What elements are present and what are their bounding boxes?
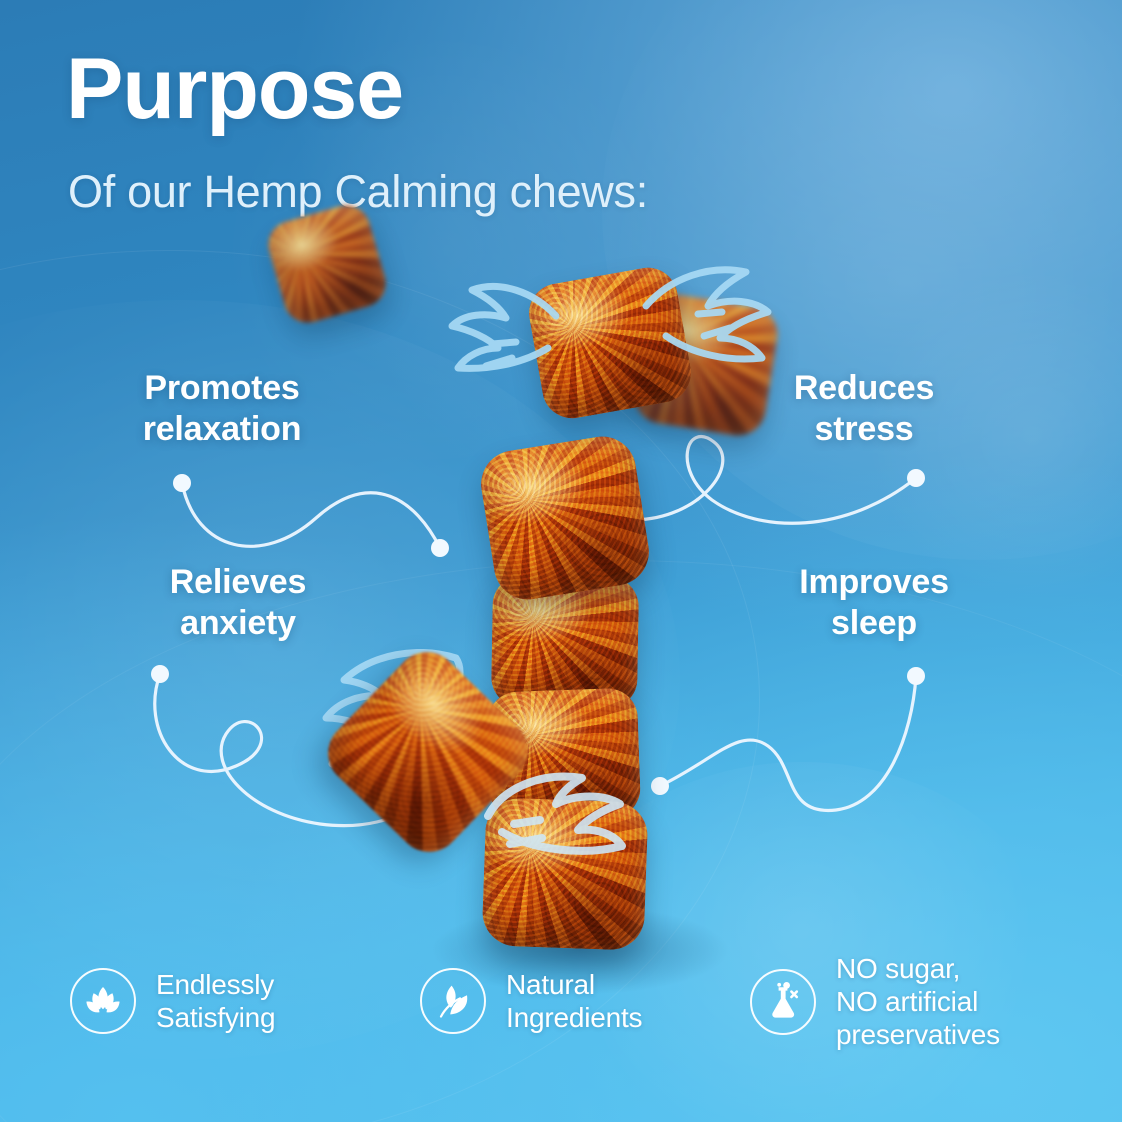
badge-label: NO sugar, NO artificial preservatives <box>836 952 1000 1051</box>
chew-floating-winged <box>524 263 695 423</box>
benefit-label-relieves-anxiety: Relieves anxiety <box>108 562 368 645</box>
lotus-icon <box>83 983 123 1019</box>
connector-improves-sleep <box>660 676 916 810</box>
background-glow-top-right <box>602 0 1122 560</box>
flask-no-icon <box>764 982 802 1022</box>
badge-label: Endlessly Satisfying <box>156 968 275 1034</box>
connector-promotes-relaxation <box>182 483 440 548</box>
promotional-poster: Purpose Of our Hemp Calming chews: Promo… <box>0 0 1122 1122</box>
badge-label: Natural Ingredients <box>506 968 642 1034</box>
benefit-label-reduces-stress: Reduces stress <box>734 368 994 451</box>
benefit-label-improves-sleep: Improves sleep <box>744 562 1004 645</box>
feature-badges: Endlessly Satisfying Natural Ingredients <box>0 950 1122 1080</box>
benefit-label-promotes-relaxation: Promotes relaxation <box>92 368 352 451</box>
badge-natural-ingredients[interactable]: Natural Ingredients <box>420 968 642 1034</box>
leaf-icon <box>434 982 472 1020</box>
badge-endlessly-satisfying[interactable]: Endlessly Satisfying <box>70 968 275 1034</box>
badge-circle-outline <box>420 968 486 1034</box>
badge-no-sugar-no-preservatives[interactable]: NO sugar, NO artificial preservatives <box>750 952 1000 1051</box>
chew-floating-top-left <box>263 200 392 329</box>
badge-circle-outline <box>70 968 136 1034</box>
badge-circle-outline <box>750 969 816 1035</box>
chew-stack-bottom <box>481 797 648 951</box>
page-title: Purpose <box>66 46 403 132</box>
chew-stack-top <box>476 432 654 605</box>
